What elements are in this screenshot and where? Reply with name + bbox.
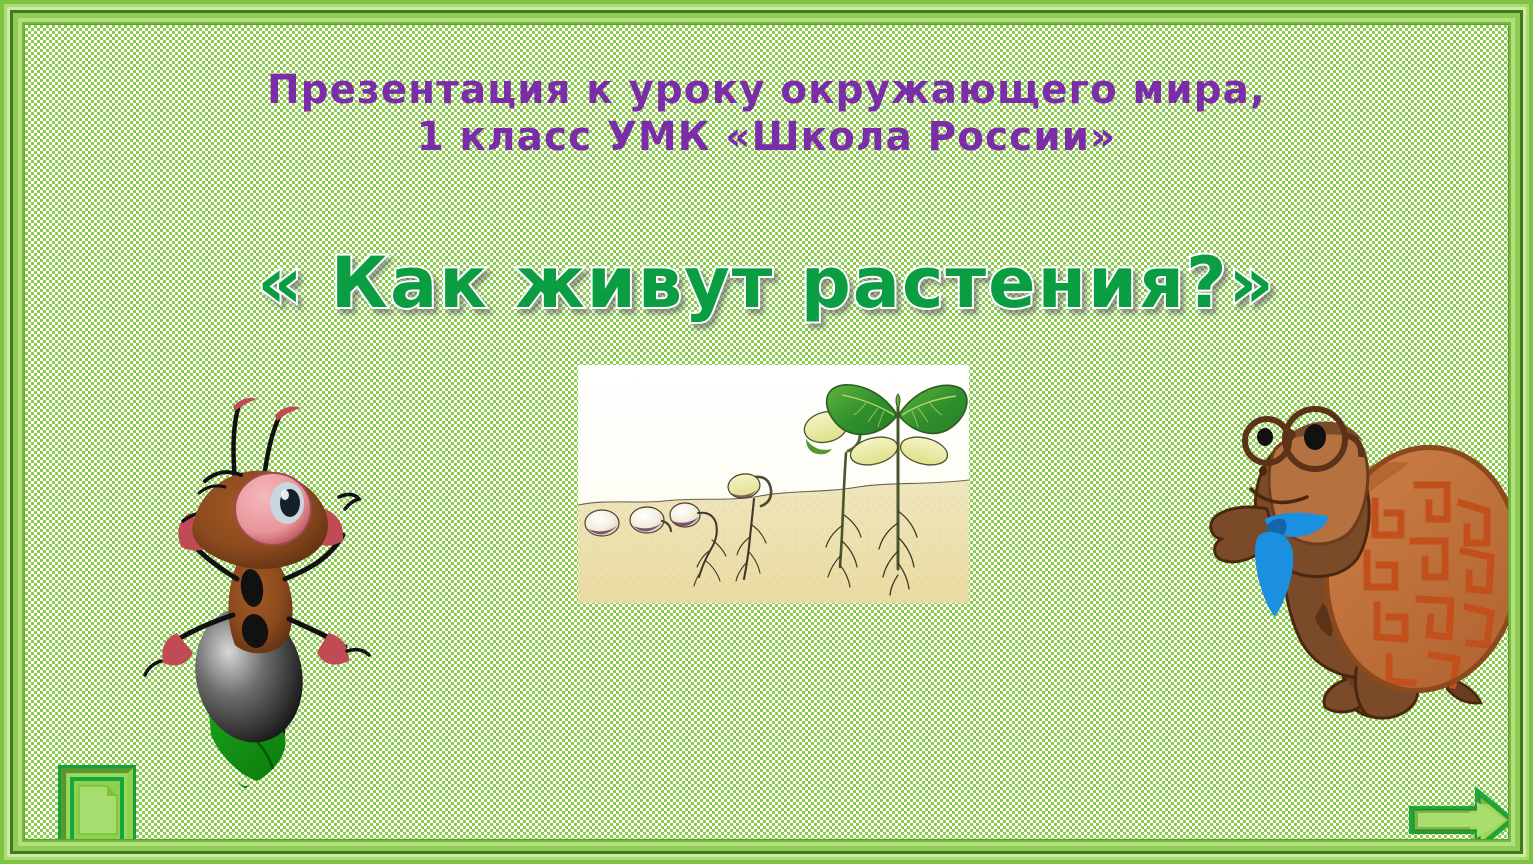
next-slide-arrow-button[interactable] — [1405, 780, 1508, 839]
slide-main-title: « Как живут растения?» — [25, 243, 1508, 323]
slide-subtitle: Презентация к уроку окружающего мира, 1 … — [47, 67, 1486, 161]
seed-germination-illustration — [578, 365, 969, 603]
slide-canvas: Презентация к уроку окружающего мира, 1 … — [25, 25, 1508, 839]
presentation-slide: Презентация к уроку окружающего мира, 1 … — [0, 0, 1533, 864]
ant-character-illustration — [133, 383, 383, 788]
document-icon-button[interactable] — [57, 764, 137, 839]
turtle-character-illustration — [1205, 393, 1508, 725]
